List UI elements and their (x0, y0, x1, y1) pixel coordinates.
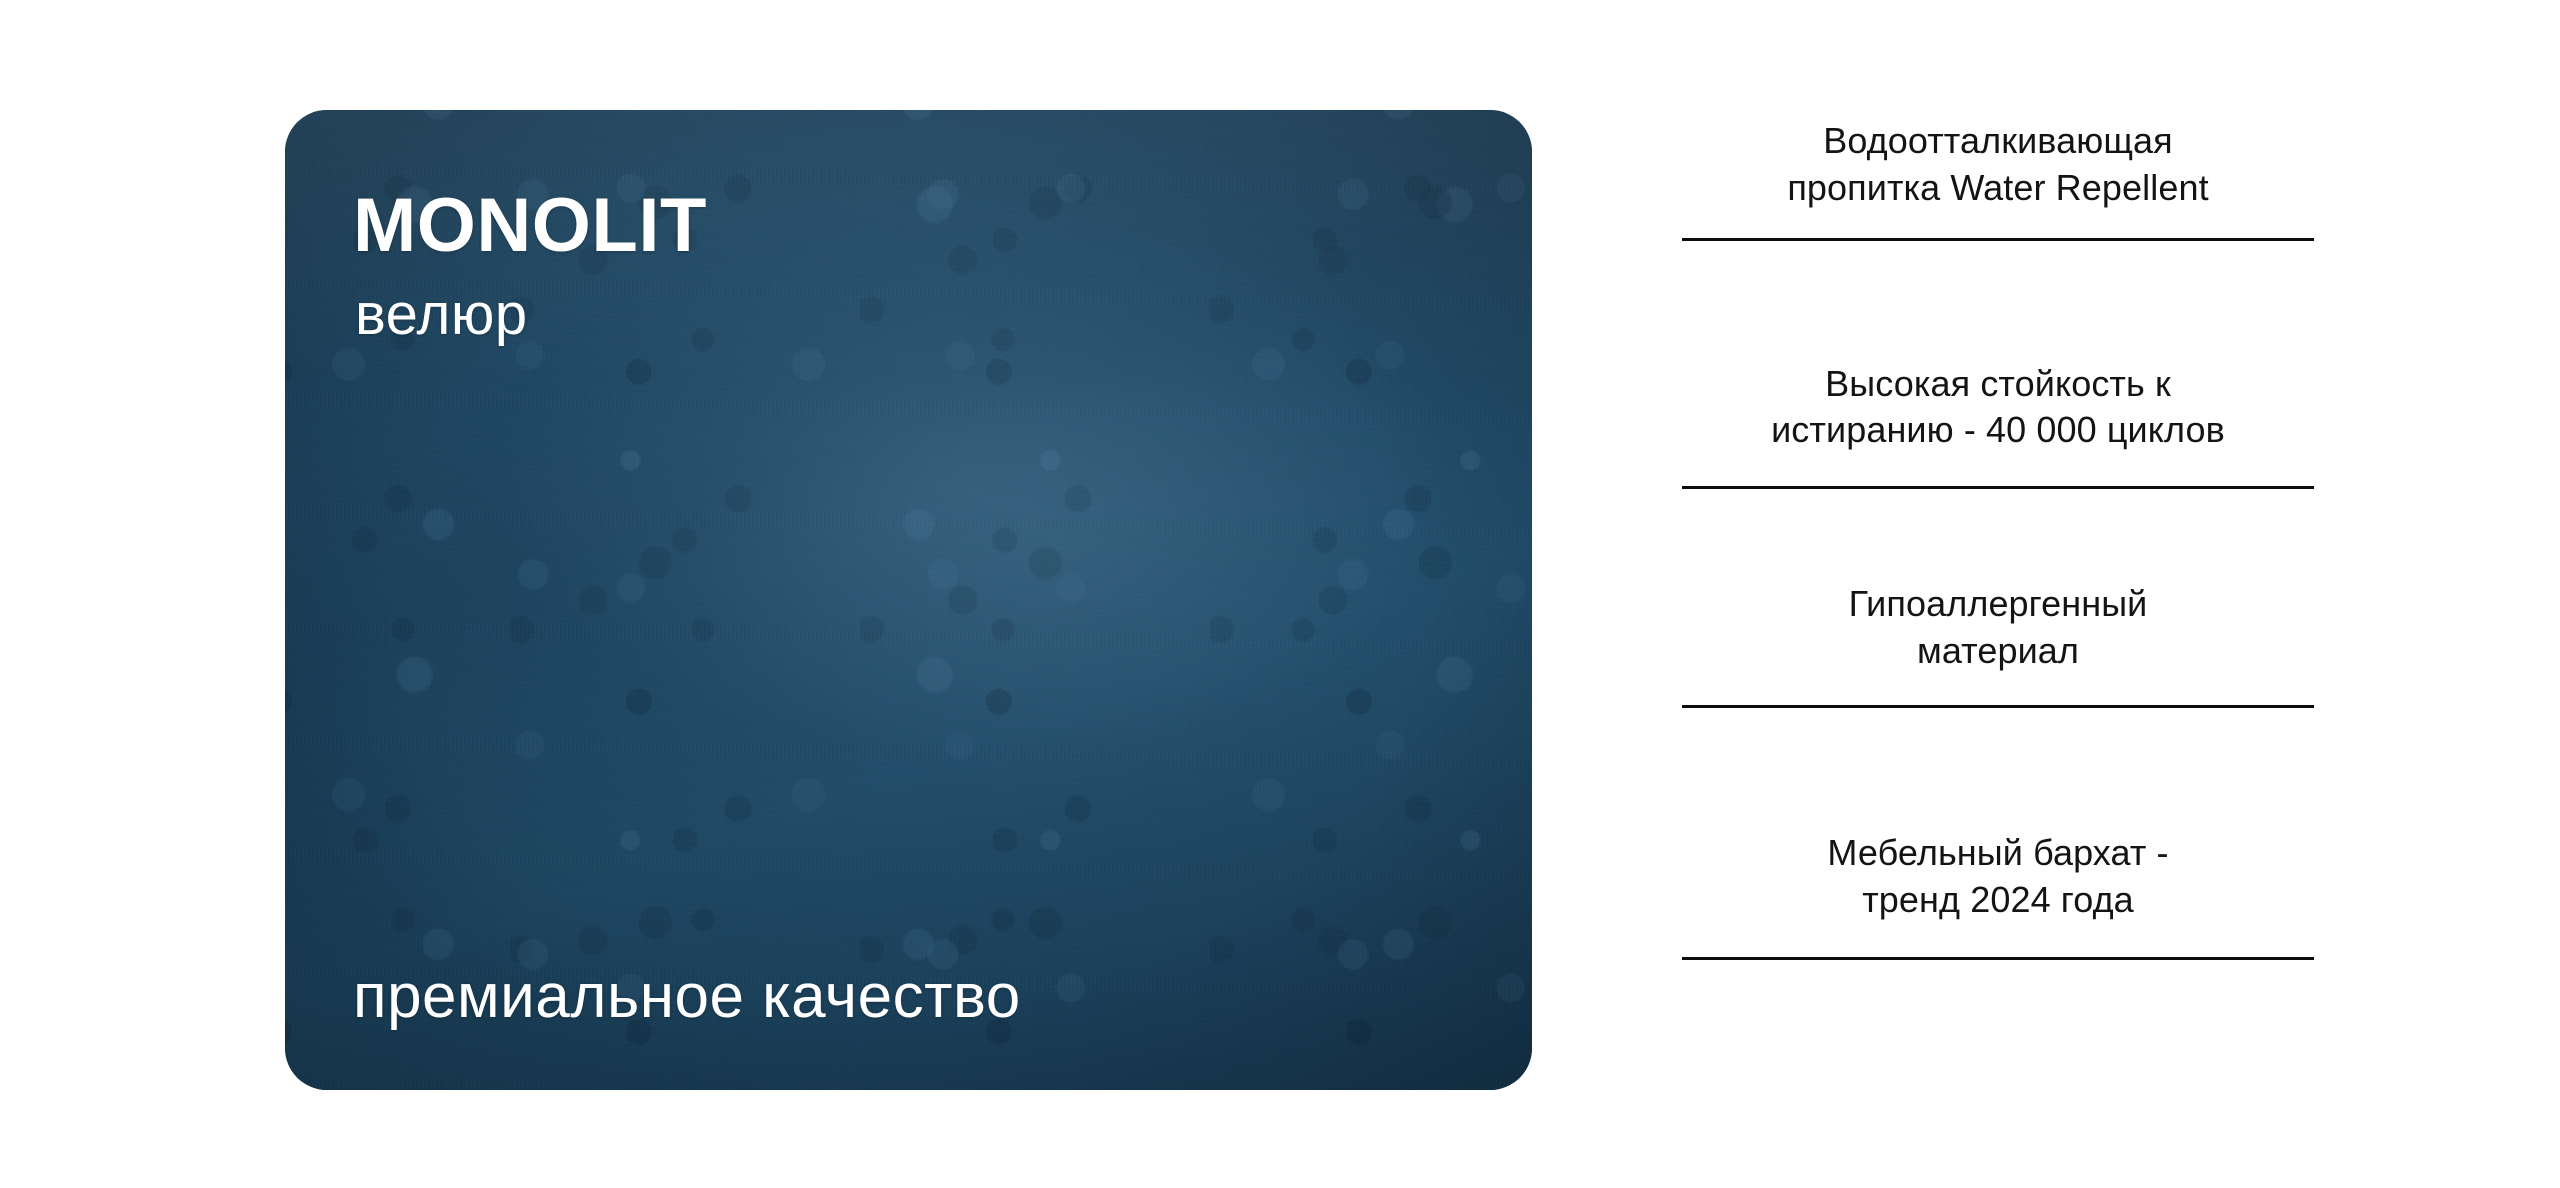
feature-item-water-repellent: Водоотталкивающая пропитка Water Repelle… (1682, 108, 2314, 241)
feature-item-hypoallergenic: Гипоаллергенный материал (1682, 489, 2314, 708)
tagline: премиальное качество (353, 966, 1021, 1028)
feature-item-abrasion-resistance: Высокая стойкость к истиранию - 40 000 ц… (1682, 241, 2314, 490)
feature-text: Мебельный бархат - тренд 2024 года (1682, 708, 2314, 924)
feature-text: Водоотталкивающая пропитка Water Repelle… (1682, 108, 2314, 212)
feature-text: Гипоаллергенный материал (1682, 489, 2314, 675)
feature-item-trend-2024: Мебельный бархат - тренд 2024 года (1682, 708, 2314, 961)
feature-divider (1682, 957, 2314, 960)
fabric-swatch: MONOLIT велюр премиальное качество (285, 110, 1532, 1090)
product-card-page: MONOLIT велюр премиальное качество Водоо… (0, 0, 2560, 1188)
feature-list: Водоотталкивающая пропитка Water Repelle… (1682, 108, 2314, 960)
feature-text: Высокая стойкость к истиранию - 40 000 ц… (1682, 241, 2314, 455)
fabric-type-label: велюр (355, 286, 528, 344)
brand-name: MONOLIT (353, 188, 707, 264)
